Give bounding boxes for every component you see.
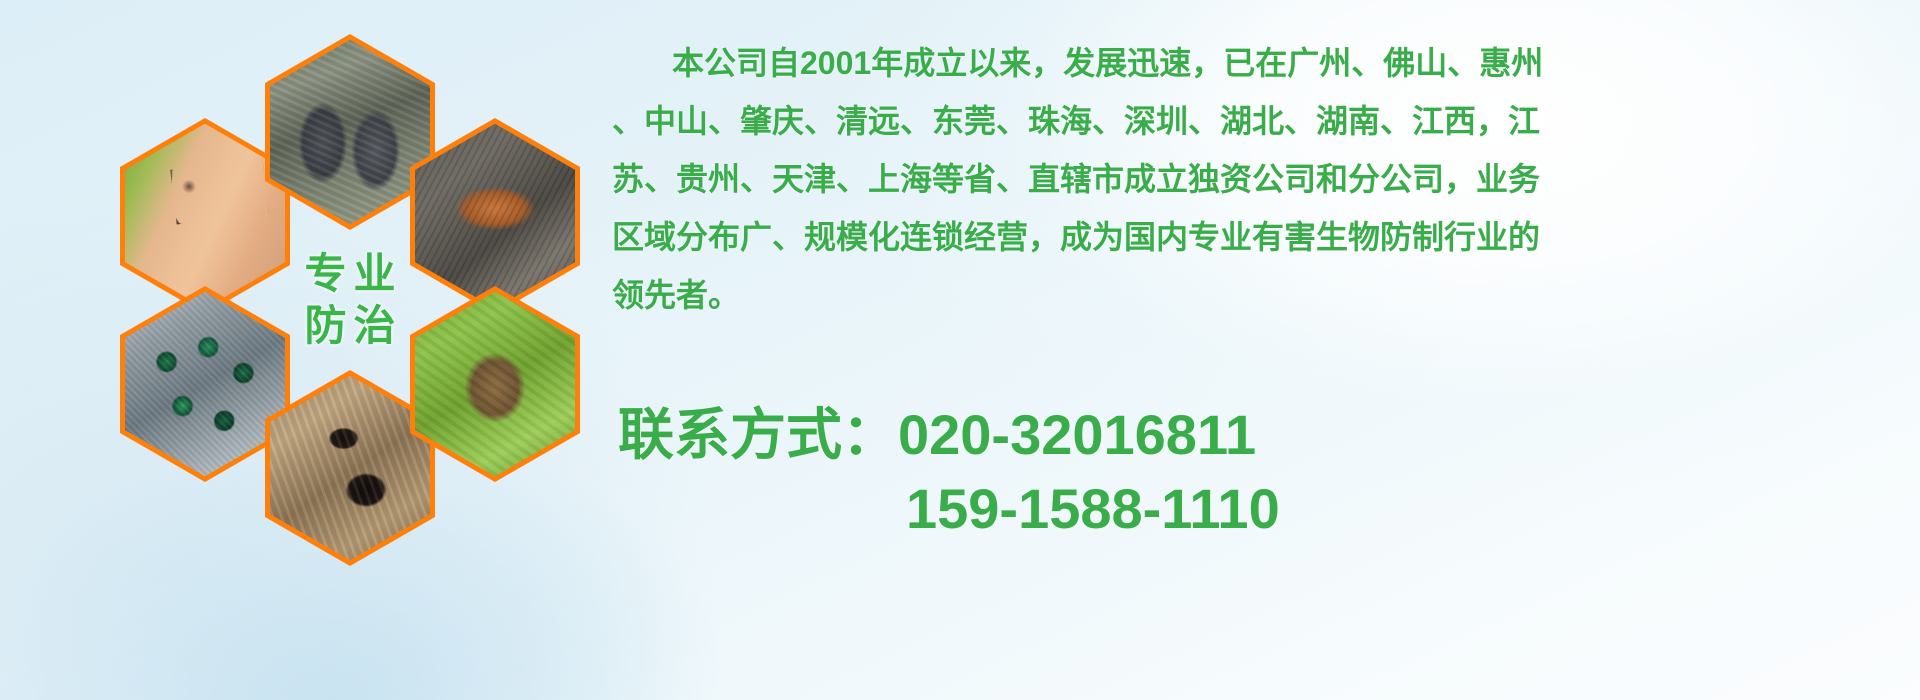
company-description: 本公司自2001年成立以来，发展迅速，已在广州、佛山、惠州 、中山、肇庆、清远、… [612,34,1904,324]
rats-photo [270,40,430,225]
hex-cell-stinkbug [410,286,580,482]
honeycomb-label-line-2: 防治 [297,300,402,352]
hex-inner-stinkbug [415,292,575,477]
contact-block: 联系方式：020-32016811 159-1588-1110 [618,398,1918,546]
mosquito-photo [125,124,285,309]
promo-banner: 专业 防治 本公司自2001年成立以来，发展迅速，已在广州、佛山、惠州 、中山、… [0,0,1920,700]
hex-inner-cockroach [415,124,575,309]
hex-cell-rats [265,34,435,230]
honeycomb-cluster: 专业 防治 [80,8,600,568]
ant-photo [270,376,430,561]
description-line-2: 、中山、肇庆、清远、东莞、珠海、深圳、湖北、湖南、江西，江 [612,92,1904,150]
description-line-5: 领先者。 [612,266,1904,324]
hex-inner-ant [270,376,430,561]
hex-inner-rats [270,40,430,225]
description-line-4: 区域分布广、规模化连锁经营，成为国内专业有害生物防制行业的 [612,208,1904,266]
hex-cell-cockroach [410,118,580,314]
description-line-3: 苏、贵州、天津、上海等省、直辖市成立独资公司和分公司，业务 [612,150,1904,208]
flies-photo [125,292,285,477]
contact-phone-primary[interactable]: 联系方式：020-32016811 [618,398,1918,472]
honeycomb-center-label: 专业 防治 [265,202,435,398]
hex-inner-mosquito [125,124,285,309]
honeycomb-label-line-1: 专业 [297,248,402,300]
description-line-1: 本公司自2001年成立以来，发展迅速，已在广州、佛山、惠州 [612,34,1904,92]
hex-inner-flies [125,292,285,477]
cockroach-photo [415,124,575,309]
contact-phone-mobile[interactable]: 159-1588-1110 [618,472,1918,546]
hex-cell-ant [265,370,435,566]
stinkbug-photo [415,292,575,477]
